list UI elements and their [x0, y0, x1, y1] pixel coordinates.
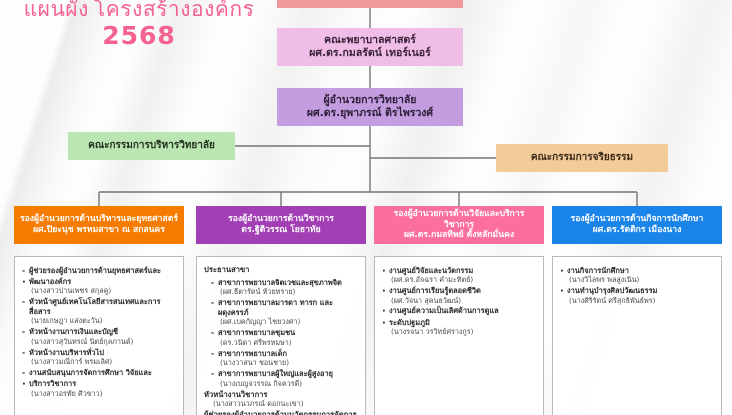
node-ethics-committee[interactable]: คณะกรรมการจริยธรรม	[496, 144, 668, 172]
item-person: (นางรจนา วรวิทย์ศรางกูร)	[382, 327, 537, 336]
list-item: สาขาการพยาบาลชุมชน (ดร.วนิดา ศรีพรหมษา)	[204, 328, 359, 347]
dept-head-student-title: รองผู้อำนวยการด้านกิจการนักศึกษา	[558, 214, 716, 225]
item-label: หัวหน้างานการเงินและบัญชี	[22, 327, 177, 337]
dept-head-academic-title: รองผู้อำนวยการด้านวิชาการ	[202, 214, 360, 225]
item-label: งานศูนย์ความเป็นเลิศด้านการดูแล	[382, 306, 537, 316]
page-title: แผนผัง โครงสร้างองค์กร 2568	[14, 0, 264, 50]
node-faculty-of-nursing[interactable]: คณะพยาบาลศาสตร์ ผศ.ดร.กมลรัตน์ เทอร์เนอร…	[277, 28, 463, 66]
dept-head-admin-strategy[interactable]: รองผู้อำนวยการด้านบริหารและยุทธศาสตร์ ผศ…	[14, 206, 184, 244]
list-item: งานศูนย์การเรียนรู้ตลอดชีวิต (ผศ.วัจนา ส…	[382, 286, 537, 305]
node-ethics-committee-label: คณะกรรมการจริยธรรม	[502, 152, 662, 165]
dept-head-student-affairs[interactable]: รองผู้อำนวยการด้านกิจการนักศึกษา ผศ.ดร.ร…	[552, 206, 722, 244]
node-president[interactable]: ศ.พิเศษ ดร.นพ.วิชัย เทียนถาวร	[277, 0, 463, 8]
item-label-2: ระดับปฐมภูมิ	[382, 318, 537, 328]
list-item: สาขาการพยาบาลมารดา ทารก และผดุงครรภ์ (ผศ…	[204, 298, 359, 327]
item-person: (นางสาวปานเพชร สกุลคู)	[22, 286, 177, 295]
item-person: (ผศ.ดร.อัจฉรา คำมะทิตย์)	[382, 275, 537, 284]
item-person: (นางเบญจวรรณ กิจควรดี)	[204, 379, 359, 388]
item-label: งานทำนุบำรุงศิลปวัฒนธรรม	[560, 286, 715, 296]
dept-head-academic[interactable]: รองผู้อำนวยการด้านวิชาการ ดร.ฐิติวรรณ โย…	[196, 206, 366, 244]
list-item: งานกิจการนักศึกษา (นางวิไลพร พลสูงเนิน)	[560, 266, 715, 285]
list-item: หัวหน้าศูนย์เทคโนโลยีสารสนเทศและการสื่อส…	[22, 297, 177, 326]
panel-admin-strategy: ผู้ช่วยรองผู้อำนวยการด้านยุทธศาสตร์และ พ…	[14, 256, 184, 415]
item-label: สาขาการพยาบาลมารดา ทารก และผดุงครรภ์	[204, 298, 359, 317]
item-label-2: บริการวิชาการ	[22, 379, 177, 389]
item-person: (ผศ.เบคกัญญา ไชยวงศา)	[204, 317, 359, 326]
item-person: (นางสาวมณีการ์ พรมเลิศ)	[22, 357, 177, 366]
list-item: หัวหน้างานวิชาการ (นางสาวนวภรณ์ ดอกนะเขา…	[204, 390, 359, 409]
list-item: หัวหน้างานบริหารทั่วไป (นางสาวมณีการ์ พร…	[22, 348, 177, 367]
item-label-2: พัฒนาองค์กร	[22, 277, 177, 287]
item-label: ผู้ช่วยรองผู้อำนวยการด้านยุทธศาสตร์และ	[22, 266, 177, 276]
item-person: (นางสาวสุวันทรณ์ นิตย์กุลภานต์)	[22, 337, 177, 346]
list-item: ผู้ช่วยรองผู้อำนวยการด้านยุทธศาสตร์และ พ…	[22, 266, 177, 296]
list-item: งานทำนุบำรุงศิลปวัฒนธรรม (นางศิริรัตน์ ศ…	[560, 286, 715, 305]
dept-head-admin-person: ผศ.ปิยะนุช พรหมสาขา ณ สกลนคร	[20, 225, 178, 236]
node-executive-committee-label: คณะกรรมการบริหารวิทยาลัย	[74, 140, 229, 153]
node-faculty-line-1: คณะพยาบาลศาสตร์	[283, 34, 457, 47]
panel-research-services: งานศูนย์วิจัยและนวัตกรรม (ผศ.ดร.อัจฉรา ค…	[374, 256, 544, 415]
panel-academic: ประธานสาขา สาขาการพยาบาลจิตเวชและสุขภาพจ…	[196, 256, 366, 415]
item-label: งานศูนย์การเรียนรู้ตลอดชีวิต	[382, 286, 537, 296]
panel-student-list: งานกิจการนักศึกษา (นางวิไลพร พลสูงเนิน) …	[560, 266, 715, 305]
dept-head-academic-person: ดร.ฐิติวรรณ โยธาทัย	[202, 225, 360, 236]
item-label: หัวหน้างานบริหารทั่วไป	[22, 348, 177, 358]
org-chart-page: แผนผัง โครงสร้างองค์กร 2568 ศ.พิเศษ ดร.น…	[0, 0, 732, 415]
item-label: สาขาการพยาบาลจิตเวชและสุขภาพจิต	[204, 278, 359, 288]
item-label: สาขาการพยาบาลชุมชน	[204, 328, 359, 338]
node-director-line-2: ผศ.ดร.ยุพาภรณ์ ติรไพรวงศ์	[283, 107, 457, 120]
node-president-line-1: ศ.พิเศษ ดร.นพ.วิชัย เทียนถาวร	[283, 0, 457, 2]
panel-research-list: งานศูนย์วิจัยและนวัตกรรม (ผศ.ดร.อัจฉรา ค…	[382, 266, 537, 337]
list-item: ผู้ช่วยรองผู้อำนวยการด้านนวัตกรรมการจัดก…	[204, 410, 359, 415]
dept-head-research-services[interactable]: รองผู้อำนวยการด้านวิจัยและบริการวิชาการ …	[374, 206, 544, 244]
item-person: (นางศิริรัตน์ ศรีสุกธิพันธ์พร)	[560, 296, 715, 305]
list-item: สาขาการพยาบาลเด็ก (นางวาสนา ชอนชาย)	[204, 349, 359, 368]
panel-admin-list: ผู้ช่วยรองผู้อำนวยการด้านยุทธศาสตร์และ พ…	[22, 266, 177, 399]
item-person: (นางสาวอรทัย ศิวขาว)	[22, 389, 177, 398]
node-director-line-1: ผู้อำนวยการวิทยาลัย	[283, 94, 457, 107]
list-item: งานศูนย์ความเป็นเลิศด้านการดูแล ระดับปฐม…	[382, 306, 537, 336]
item-label: สาขาการพยาบาลผู้ใหญ่และผู้สูงอายุ	[204, 369, 359, 379]
list-item: งานสนับสนุนการจัดการศึกษา วิจัยและ บริกา…	[22, 368, 177, 398]
node-faculty-line-2: ผศ.ดร.กมลรัตน์ เทอร์เนอร์	[283, 47, 457, 60]
item-person: (ดร.วนิดา ศรีพรหมษา)	[204, 338, 359, 347]
node-executive-committee[interactable]: คณะกรรมการบริหารวิทยาลัย	[68, 132, 235, 160]
panel-academic-list: สาขาการพยาบาลจิตเวชและสุขภาพจิต (ผศ.ธีตา…	[204, 278, 359, 415]
item-label: ผู้ช่วยรองผู้อำนวยการด้านนวัตกรรมการจัดก…	[204, 410, 359, 415]
list-item: สาขาการพยาบาลผู้ใหญ่และผู้สูงอายุ (นางเบ…	[204, 369, 359, 388]
item-person: (นางวาสนา ชอนชาย)	[204, 358, 359, 367]
item-person: (นางวิไลพร พลสูงเนิน)	[560, 275, 715, 284]
dept-head-research-title: รองผู้อำนวยการด้านวิจัยและบริการวิชาการ	[380, 209, 538, 230]
item-label: งานกิจการนักศึกษา	[560, 266, 715, 276]
item-person: (ผศ.ธีตารัตน์ ห้วยทราย)	[204, 287, 359, 296]
title-year: 2568	[102, 21, 176, 50]
item-person: (ผศ.วัจนา สุคนธวัฒน์)	[382, 296, 537, 305]
panel-student-affairs: งานกิจการนักศึกษา (นางวิไลพร พลสูงเนิน) …	[552, 256, 722, 415]
item-label: งานสนับสนุนการจัดการศึกษา วิจัยและ	[22, 368, 177, 378]
dept-head-student-person: ผศ.ดร.รัตติกร เมืองนาง	[558, 225, 716, 236]
list-item: งานศูนย์วิจัยและนวัตกรรม (ผศ.ดร.อัจฉรา ค…	[382, 266, 537, 285]
dept-head-admin-title: รองผู้อำนวยการด้านบริหารและยุทธศาสตร์	[20, 214, 178, 225]
dept-head-research-person: ผศ.ดร.กมลทิพย์ ตั้งหลักมั่นคง	[380, 230, 538, 241]
title-line-1: แผนผัง	[24, 0, 89, 21]
item-label: หัวหน้าศูนย์เทคโนโลยีสารสนเทศและการสื่อส…	[22, 297, 177, 316]
item-label: หัวหน้างานวิชาการ	[204, 390, 359, 400]
list-item: หัวหน้างานการเงินและบัญชี (นางสาวสุวันทร…	[22, 327, 177, 346]
title-line-2: โครงสร้างองค์กร	[94, 0, 254, 21]
panel-academic-header: ประธานสาขา	[204, 264, 359, 276]
list-item: สาขาการพยาบาลจิตเวชและสุขภาพจิต (ผศ.ธีตา…	[204, 278, 359, 297]
item-person: (นายเกษฎา แสงตะวัน)	[22, 316, 177, 325]
item-label: งานศูนย์วิจัยและนวัตกรรม	[382, 266, 537, 276]
node-college-director[interactable]: ผู้อำนวยการวิทยาลัย ผศ.ดร.ยุพาภรณ์ ติรไพ…	[277, 88, 463, 126]
item-label: สาขาการพยาบาลเด็ก	[204, 349, 359, 359]
item-person: (นางสาวนวภรณ์ ดอกนะเขา)	[204, 399, 359, 408]
